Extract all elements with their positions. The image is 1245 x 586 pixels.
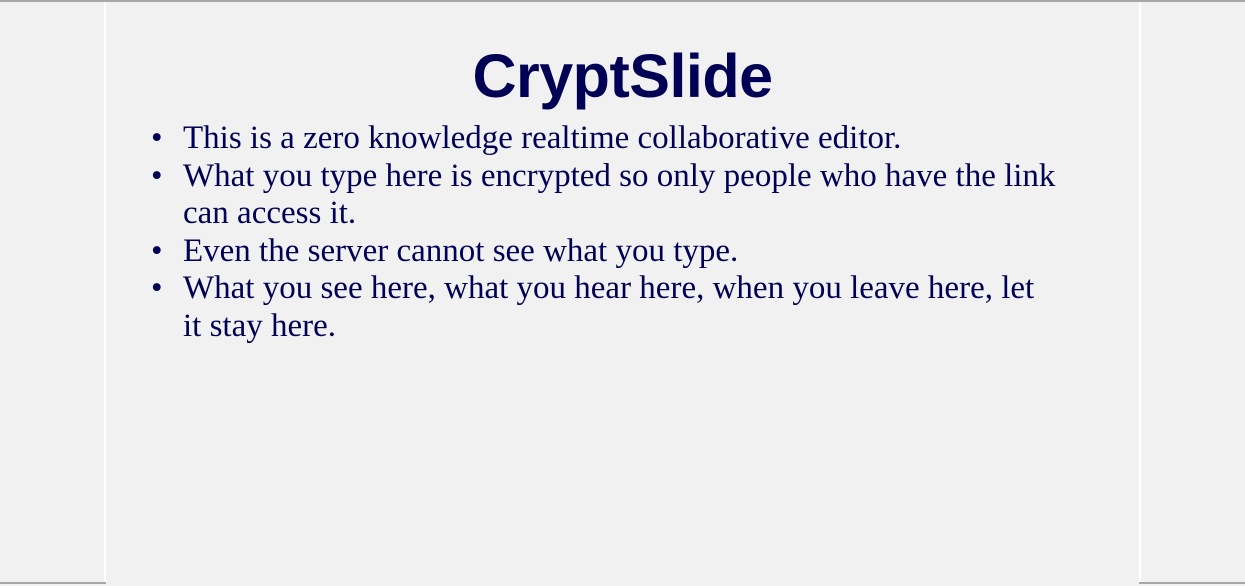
bullet-text: Even the server cannot see what you type… [183, 233, 1119, 271]
bullet-marker-icon: • [151, 270, 165, 308]
slide-viewer-page: CryptSlide • This is a zero knowledge re… [0, 0, 1245, 584]
slide-title: CryptSlide [106, 43, 1139, 109]
bullet-marker-icon: • [151, 158, 165, 196]
slide-surface[interactable]: CryptSlide • This is a zero knowledge re… [106, 2, 1139, 586]
bullet-item: • What you see here, what you hear here,… [147, 270, 1119, 345]
bullet-item: • Even the server cannot see what you ty… [147, 233, 1119, 271]
bullet-marker-icon: • [151, 120, 165, 158]
bullet-text: What you see here, what you hear here, w… [183, 270, 1055, 345]
bullet-marker-icon: • [151, 233, 165, 271]
bullet-text: This is a zero knowledge realtime collab… [183, 120, 1013, 158]
left-gutter [0, 2, 105, 582]
right-gutter [1140, 2, 1245, 582]
bullet-text: What you type here is encrypted so only … [183, 158, 1091, 233]
slide-bullet-list: • This is a zero knowledge realtime coll… [147, 120, 1119, 346]
slide-right-edge-rule [1139, 2, 1141, 582]
bullet-item: • This is a zero knowledge realtime coll… [147, 120, 1119, 158]
bullet-item: • What you type here is encrypted so onl… [147, 158, 1119, 233]
